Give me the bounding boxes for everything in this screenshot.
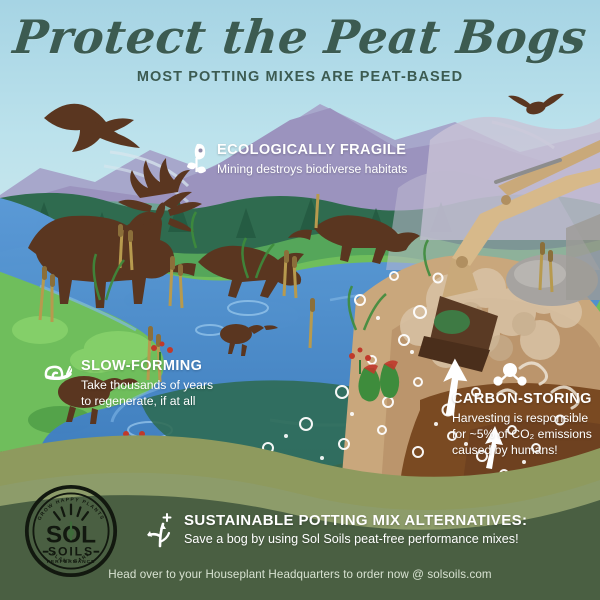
infographic-poster: Protect the Peat Bogs MOST POTTING MIXES…: [0, 0, 600, 600]
callout-head: SLOW-FORMING: [81, 358, 213, 375]
callout-body: Save a bog by using Sol Soils peat-free …: [184, 531, 527, 548]
callout-ecologically-fragile: ECOLOGICALLY FRAGILE Mining destroys bio…: [186, 142, 407, 177]
pitcher-plant-icon: [186, 142, 208, 174]
callout-body: Take thousands of years to regenerate, i…: [81, 377, 213, 409]
title-block: Protect the Peat Bogs MOST POTTING MIXES…: [0, 14, 600, 85]
sol-soils-logo[interactable]: SOL SOILS PERFORMANCE GROW HAPPY PLANTS …: [24, 484, 118, 578]
callout-head: CARBON-STORING: [452, 391, 600, 408]
page-title: Protect the Peat Bogs: [0, 14, 600, 60]
callout-body: Mining destroys biodiverse habitats: [217, 161, 407, 177]
callout-body: Harvesting is responsible for ~5% of CO₂…: [452, 410, 600, 459]
page-subtitle: MOST POTTING MIXES ARE PEAT-BASED: [0, 69, 600, 85]
callout-carbon-storing: CARBON-STORING Harvesting is responsible…: [452, 362, 600, 458]
sprout-icon: [146, 512, 174, 548]
callout-head: ECOLOGICALLY FRAGILE: [217, 142, 407, 159]
callout-slow-forming: SLOW-FORMING Take thousands of years to …: [44, 358, 213, 409]
co2-molecule-icon: [492, 362, 528, 388]
callout-head: SUSTAINABLE POTTING MIX ALTERNATIVES:: [184, 512, 527, 529]
snail-icon: [44, 358, 72, 380]
callout-sustainable-alternatives: SUSTAINABLE POTTING MIX ALTERNATIVES: Sa…: [146, 512, 527, 548]
